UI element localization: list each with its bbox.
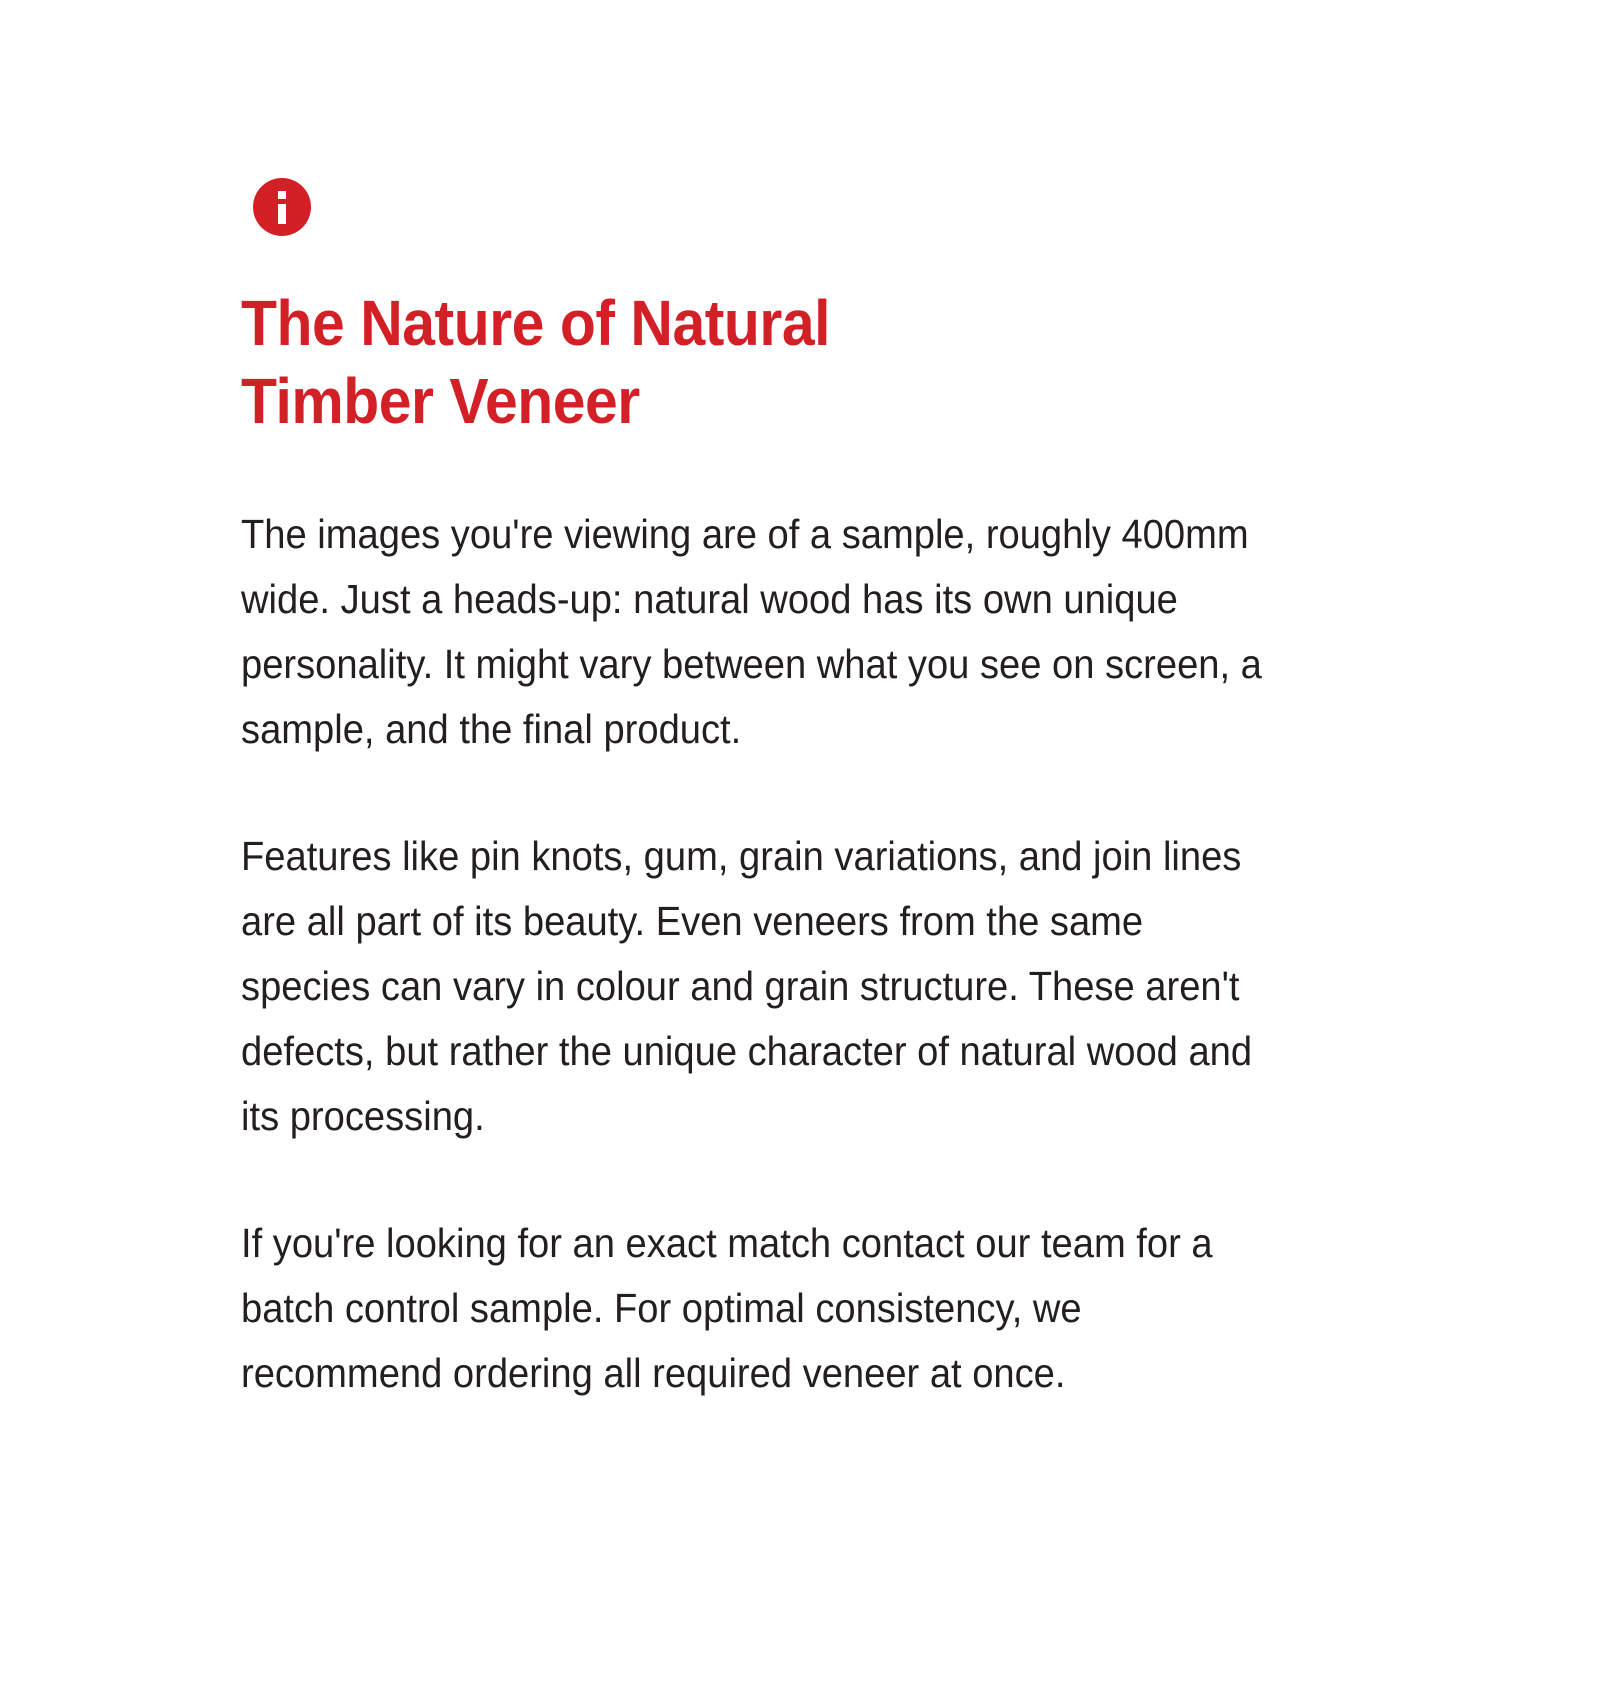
veneer-info-panel: The Nature of Natural Timber Veneer The … xyxy=(0,0,1620,1686)
body-copy: The images you're viewing are of a sampl… xyxy=(241,502,1283,1406)
info-icon xyxy=(253,178,311,236)
paragraph-exact-match: If you're looking for an exact match con… xyxy=(241,1211,1283,1406)
paragraph-sample-variation: The images you're viewing are of a sampl… xyxy=(241,502,1283,762)
paragraph-natural-features: Features like pin knots, gum, grain vari… xyxy=(241,824,1283,1149)
page-title: The Nature of Natural Timber Veneer xyxy=(241,284,1161,440)
info-icon-stem xyxy=(278,204,286,224)
info-icon-dot xyxy=(278,191,286,199)
